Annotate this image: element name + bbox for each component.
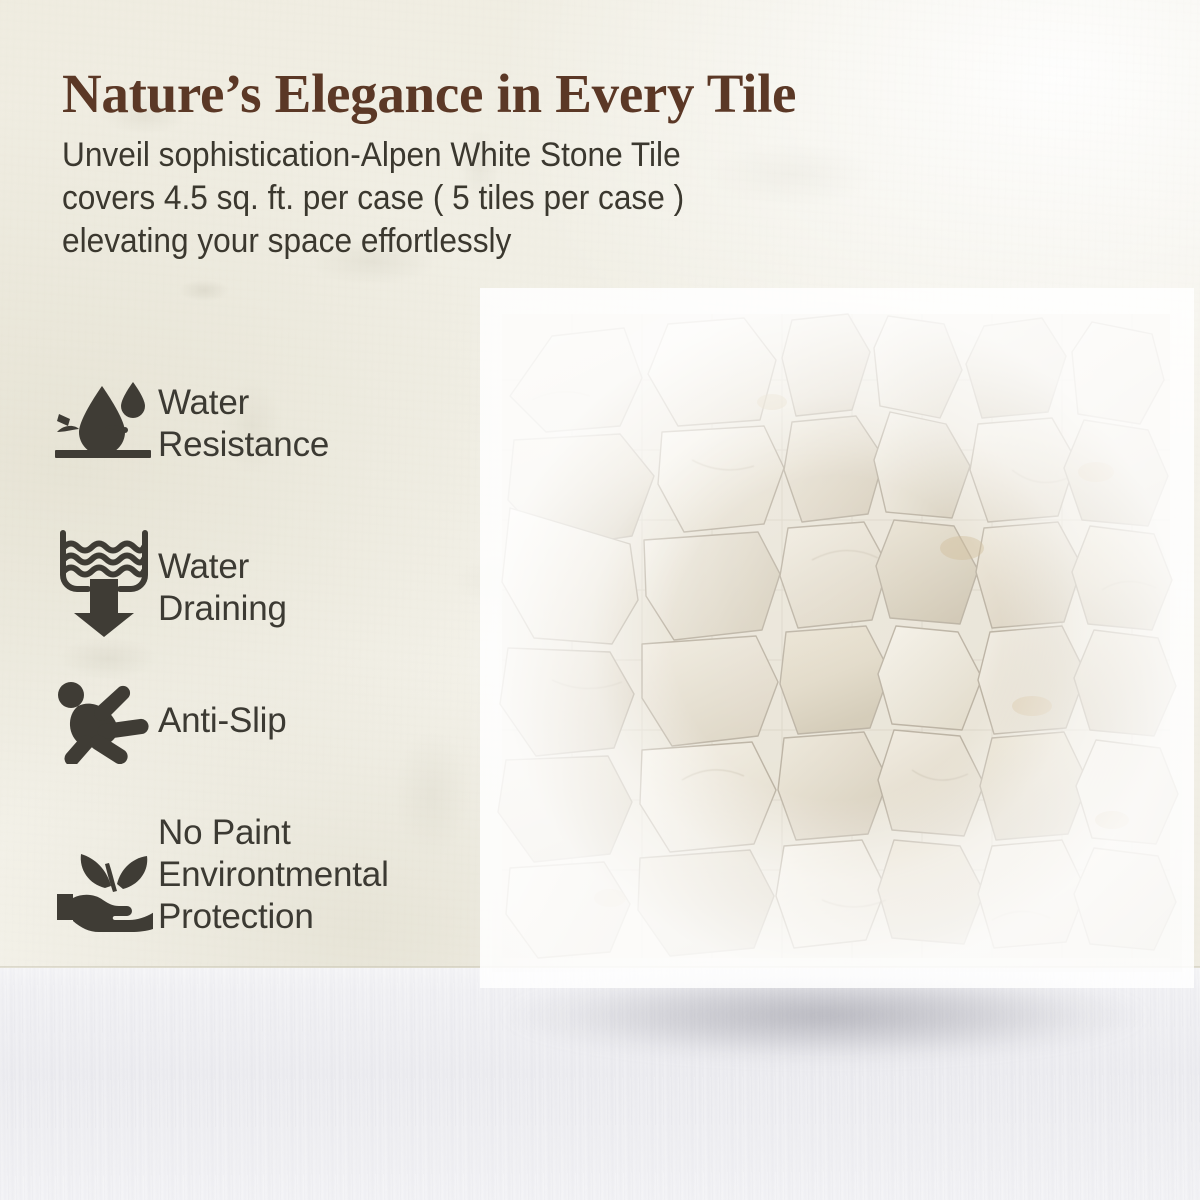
product-drop-shadow [470, 972, 1200, 1092]
feature-label: No Paint Environtmental Protection [154, 806, 389, 938]
feature-label: Anti-Slip [154, 680, 287, 742]
feature-item-water-draining: Water Draining [54, 528, 287, 640]
stone-mosaic-graphic [492, 300, 1182, 972]
feature-label: Water Draining [154, 528, 287, 630]
product-image [492, 300, 1182, 972]
water-draining-icon [54, 528, 154, 640]
product-poster: Nature’s Elegance in Every Tile Unveil s… [0, 0, 1200, 1200]
feature-label: Water Resistance [154, 378, 329, 466]
anti-slip-falling-person-icon [54, 680, 154, 766]
feature-item-water-resistance: Water Resistance [54, 378, 329, 470]
feature-list: Water Resistance Water Draining [0, 0, 500, 1200]
hand-holding-plant-icon [54, 806, 154, 936]
feature-item-environmental-protection: No Paint Environtmental Protection [54, 806, 389, 938]
water-drop-resistance-icon [54, 378, 154, 470]
feature-item-anti-slip: Anti-Slip [54, 680, 287, 766]
